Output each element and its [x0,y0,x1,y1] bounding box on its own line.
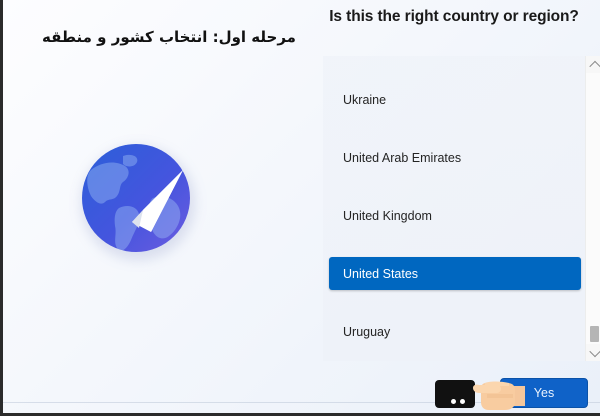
list-item-ukraine[interactable]: Ukraine [329,83,581,116]
scrollbar-track[interactable] [586,73,600,344]
list-item-label: Uruguay [343,325,390,339]
list-item-label: Ukraine [343,93,386,107]
list-item-uruguay[interactable]: Uruguay [329,315,581,348]
hand-cursor-icon [467,372,529,414]
list-item-label: United Kingdom [343,209,432,223]
illustration-pane: مرحله اول: انتخاب کشور و منطقه [3,0,303,416]
mouse-dot-right [460,399,465,404]
chevron-down-icon [589,345,600,356]
setup-screen: مرحله اول: انتخاب کشور و منطقه [0,0,600,416]
list-item-united-arab-emirates[interactable]: United Arab Emirates [329,141,581,174]
yes-button-label: Yes [534,386,554,400]
chevron-up-icon [589,60,600,71]
list-item-label: United States [343,267,418,281]
list-item-label: United Arab Emirates [343,151,461,165]
farsi-step-caption: مرحله اول: انتخاب کشور و منطقه [33,28,305,46]
scroll-down-arrow[interactable] [586,344,600,361]
mouse-dot-left [451,399,456,404]
list-item-united-kingdom[interactable]: United Kingdom [329,199,581,232]
country-list[interactable]: Ukraine United Arab Emirates United King… [323,56,600,361]
list-scrollbar[interactable] [585,56,600,361]
country-selection-pane: Is this the right country or region? Ukr… [303,0,600,416]
page-title: Is this the right country or region? [311,8,597,26]
globe-paper-plane-icon [75,136,201,262]
list-item-united-states[interactable]: United States [329,257,581,290]
hand-pointer-mouse-icon [433,372,528,414]
country-list-viewport: Ukraine United Arab Emirates United King… [323,56,585,361]
scroll-up-arrow[interactable] [586,56,600,73]
globe-svg [75,136,201,262]
scrollbar-thumb[interactable] [590,326,599,342]
